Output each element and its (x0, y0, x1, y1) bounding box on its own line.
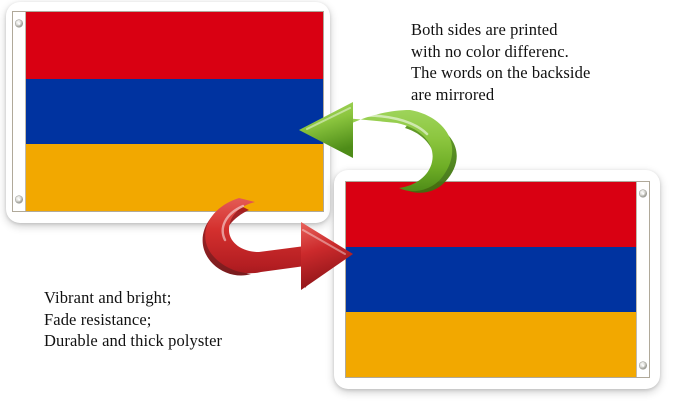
grommet-icon (16, 20, 23, 27)
grommet-icon (640, 362, 647, 369)
flag-back-band-red (346, 182, 649, 247)
flag-back-band-orange (346, 312, 649, 377)
flag-back (345, 181, 650, 378)
flag-front-band-orange (13, 144, 323, 211)
flag-front-band-blue (13, 79, 323, 145)
callout-both-sides-printed: Both sides are printed with no color dif… (411, 19, 590, 105)
arrow-green-highlight (357, 116, 427, 134)
grommet-icon (16, 196, 23, 203)
flag-back-hoist (636, 182, 649, 377)
product-scene: Both sides are printed with no color dif… (0, 0, 679, 408)
flag-front-band-red (13, 12, 323, 79)
grommet-icon (640, 190, 647, 197)
flag-front (12, 11, 324, 212)
flag-front-hoist (13, 12, 26, 211)
flag-back-band-blue (346, 247, 649, 311)
callout-vibrant-durable: Vibrant and bright; Fade resistance; Dur… (44, 287, 222, 352)
